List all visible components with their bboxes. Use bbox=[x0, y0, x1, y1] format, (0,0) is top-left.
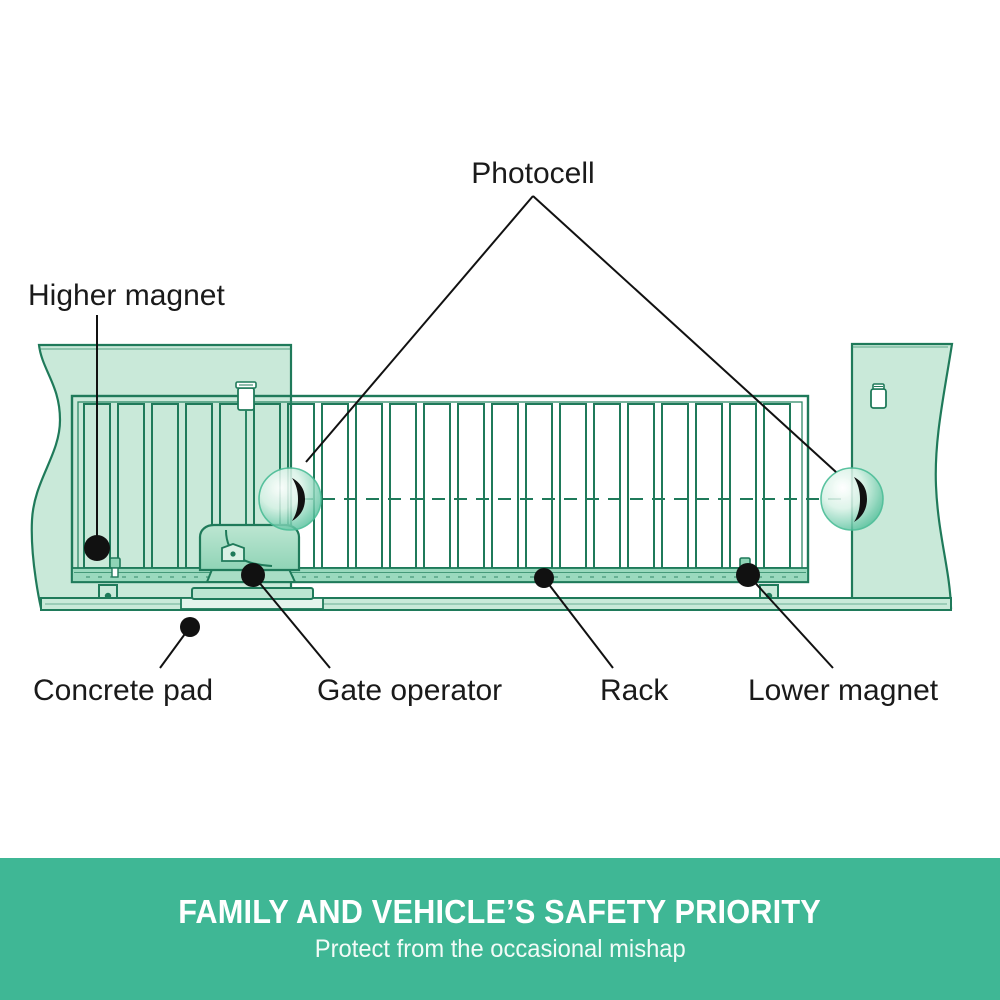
product-infographic: Photocell Higher magnet Concrete pad Gat… bbox=[0, 0, 1000, 1000]
gate-operator-motor bbox=[192, 525, 313, 599]
rack-rail bbox=[72, 568, 808, 582]
leader-photocell-right bbox=[533, 196, 836, 472]
gate-diagram-svg: Photocell Higher magnet Concrete pad Gat… bbox=[0, 0, 1000, 858]
leader-lower-magnet bbox=[748, 575, 833, 668]
callout-label-photocell: Photocell bbox=[471, 157, 594, 190]
ground-slab bbox=[41, 598, 951, 610]
promo-headline: FAMILY AND VEHICLE’S SAFETY PRIORITY bbox=[179, 894, 822, 931]
callout-label-gate-operator: Gate operator bbox=[317, 674, 502, 707]
callout-label-lower-magnet: Lower magnet bbox=[748, 674, 939, 707]
leader-rack bbox=[544, 578, 613, 668]
leader-photocell-left bbox=[306, 196, 533, 462]
photocell-right bbox=[821, 468, 883, 530]
promo-banner: FAMILY AND VEHICLE’S SAFETY PRIORITY Pro… bbox=[0, 858, 1000, 1000]
marker-concrete-pad bbox=[180, 617, 200, 637]
callout-label-concrete-pad: Concrete pad bbox=[33, 674, 213, 707]
promo-subline: Protect from the occasional mishap bbox=[315, 935, 686, 964]
wall-device-icon bbox=[871, 384, 886, 408]
callout-label-rack: Rack bbox=[600, 674, 669, 707]
marker-gate-operator bbox=[241, 563, 265, 587]
gate-diagram-area: Photocell Higher magnet Concrete pad Gat… bbox=[0, 0, 1000, 858]
callout-label-higher-magnet: Higher magnet bbox=[28, 279, 225, 312]
higher-magnet-device bbox=[110, 558, 120, 577]
marker-higher-magnet bbox=[84, 535, 110, 561]
marker-rack bbox=[534, 568, 554, 588]
photocell-left bbox=[259, 468, 321, 530]
marker-lower-magnet bbox=[736, 563, 760, 587]
